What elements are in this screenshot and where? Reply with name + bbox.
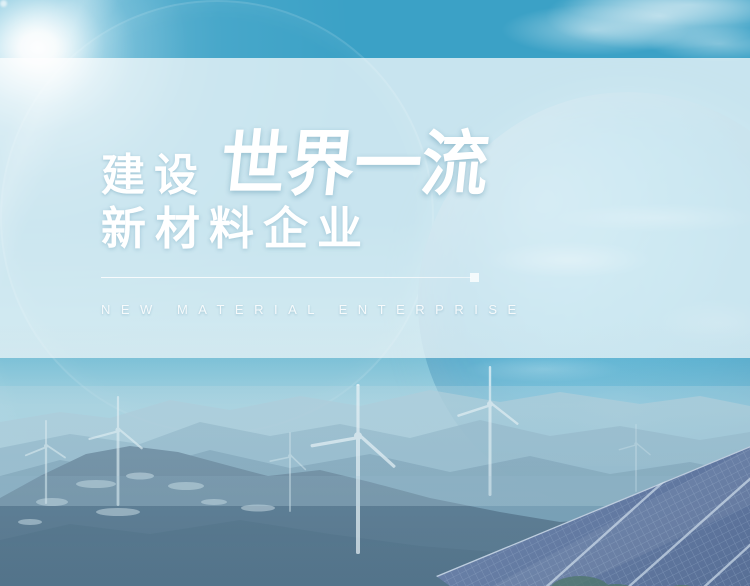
snow-patches	[18, 473, 275, 526]
wind-turbines	[25, 366, 651, 554]
divider	[101, 273, 479, 282]
wind-turbine	[25, 420, 67, 504]
foreground-foliage	[476, 576, 700, 586]
horizon-haze	[0, 316, 750, 466]
mountain-ridge-near	[0, 446, 750, 586]
mountain-foreground	[0, 520, 750, 586]
mountain-ridge-far	[0, 390, 750, 586]
lens-flare-ghost-icon	[0, 0, 86, 86]
headline-block: 建设 世界一流 新材料企业 NEW MATERIAL ENTERPRISE	[101, 124, 521, 317]
hero-banner: 建设 世界一流 新材料企业 NEW MATERIAL ENTERPRISE	[0, 0, 750, 586]
headline-line-2: 新材料企业	[101, 205, 521, 252]
divider-line	[101, 277, 471, 278]
mountain-landscape	[0, 326, 750, 586]
wind-turbine	[618, 424, 651, 492]
wind-turbine	[269, 432, 306, 512]
solar-panel-array	[430, 408, 750, 586]
headline-line-1: 建设 世界一流	[101, 124, 521, 198]
subtitle-english: NEW MATERIAL ENTERPRISE	[101, 302, 521, 317]
headline-emphasis: 世界一流	[217, 133, 500, 198]
wind-turbine	[88, 396, 143, 506]
mountain-ridge-mid-2	[0, 450, 750, 586]
divider-end-marker	[470, 273, 479, 282]
wind-turbine	[310, 384, 396, 554]
lens-flare-dot-icon	[0, 0, 7, 7]
headline-prefix: 建设	[101, 154, 207, 198]
solar-panels	[436, 422, 750, 586]
mountain-ridge-mid	[0, 420, 750, 586]
wind-turbine	[457, 366, 519, 496]
